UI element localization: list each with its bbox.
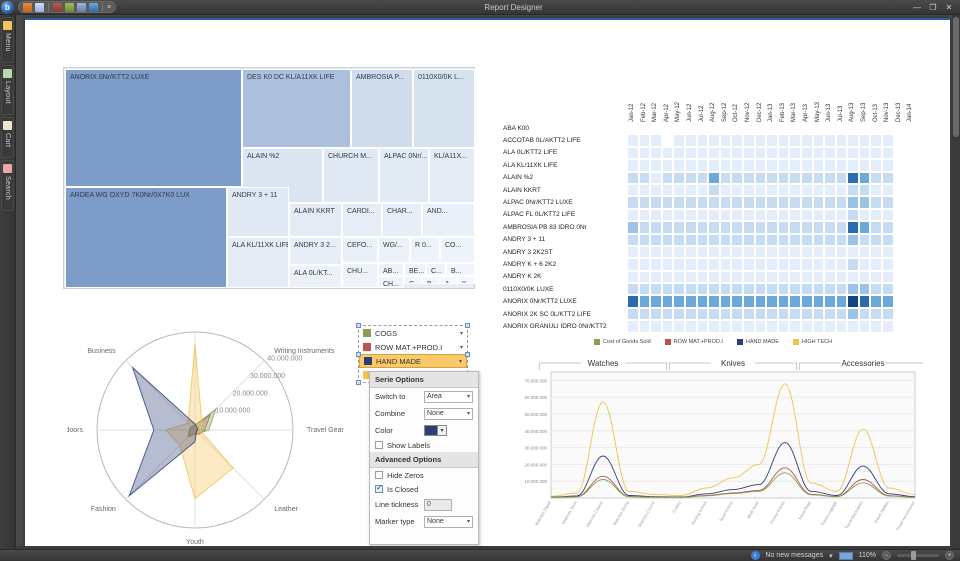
heatmap-cell[interactable] — [847, 209, 859, 221]
save-icon[interactable] — [23, 3, 32, 12]
heatmap-cell[interactable] — [731, 134, 743, 146]
heatmap-cell[interactable] — [755, 234, 767, 246]
heatmap-cell[interactable] — [720, 196, 732, 208]
heatmap-cell[interactable] — [662, 196, 674, 208]
heatmap-cell[interactable] — [859, 196, 871, 208]
heatmap-cell[interactable] — [894, 122, 906, 134]
heatmap-cell[interactable] — [836, 147, 848, 159]
heatmap-row[interactable]: ALAIN %2 — [503, 172, 917, 184]
heatmap-cell[interactable] — [905, 234, 917, 246]
heatmap-cell[interactable] — [789, 134, 801, 146]
heatmap-cell[interactable] — [743, 283, 755, 295]
heatmap-cell[interactable] — [801, 258, 813, 270]
heatmap-cell[interactable] — [882, 258, 894, 270]
heatmap-cell[interactable] — [894, 258, 906, 270]
heatmap-cell[interactable] — [685, 196, 697, 208]
heatmap-cell[interactable] — [766, 246, 778, 258]
heatmap-cell[interactable] — [627, 184, 639, 196]
heatmap-cell[interactable] — [859, 209, 871, 221]
heatmap-cell[interactable] — [766, 159, 778, 171]
heatmap-cell[interactable] — [847, 196, 859, 208]
heatmap-cell[interactable] — [673, 147, 685, 159]
heatmap-cell[interactable] — [755, 122, 767, 134]
heatmap-cell[interactable] — [639, 283, 651, 295]
heatmap-cell[interactable] — [685, 320, 697, 332]
heatmap-cell[interactable] — [859, 283, 871, 295]
toolbar-overflow-icon[interactable]: ≡ — [107, 4, 111, 11]
color-picker[interactable]: ▾ — [424, 425, 447, 436]
heatmap-cell[interactable] — [882, 234, 894, 246]
heatmap-cell[interactable] — [789, 159, 801, 171]
heatmap-cell[interactable] — [662, 283, 674, 295]
heatmap-cell[interactable] — [743, 147, 755, 159]
heatmap-cell[interactable] — [697, 122, 709, 134]
heatmap-cell[interactable] — [836, 134, 848, 146]
heatmap-cell[interactable] — [766, 320, 778, 332]
heatmap-cell[interactable] — [894, 159, 906, 171]
heatmap-row[interactable]: ANDRY K 2K — [503, 271, 917, 283]
heatmap-cell[interactable] — [847, 246, 859, 258]
heatmap-cell[interactable] — [743, 271, 755, 283]
vertical-scrollbar[interactable] — [952, 15, 960, 549]
heatmap-cell[interactable] — [627, 246, 639, 258]
heatmap-cell[interactable] — [743, 184, 755, 196]
heatmap-cell[interactable] — [708, 184, 720, 196]
heatmap-cell[interactable] — [720, 283, 732, 295]
heatmap-cell[interactable] — [639, 172, 651, 184]
heatmap-cell[interactable] — [801, 134, 813, 146]
heatmap-cell[interactable] — [743, 234, 755, 246]
heatmap-cell[interactable] — [662, 147, 674, 159]
heatmap-cell[interactable] — [894, 184, 906, 196]
heatmap-cell[interactable] — [836, 258, 848, 270]
heatmap-cell[interactable] — [870, 221, 882, 233]
treemap-tile[interactable]: CO... — [440, 237, 475, 263]
heatmap-cell[interactable] — [650, 122, 662, 134]
heatmap-cell[interactable] — [639, 258, 651, 270]
heatmap-cell[interactable] — [859, 159, 871, 171]
heatmap-cell[interactable] — [882, 308, 894, 320]
heatmap-cell[interactable] — [778, 184, 790, 196]
heatmap-cell[interactable] — [870, 295, 882, 307]
legend-item[interactable]: ROW MAT.+PROD.I▾ — [359, 340, 467, 354]
heatmap-cell[interactable] — [813, 246, 825, 258]
heatmap-cell[interactable] — [778, 295, 790, 307]
heatmap-cell[interactable] — [708, 196, 720, 208]
heatmap-cell[interactable] — [870, 147, 882, 159]
heatmap-cell[interactable] — [650, 295, 662, 307]
heatmap-cell[interactable] — [813, 147, 825, 159]
heatmap-cell[interactable] — [778, 221, 790, 233]
heatmap-cell[interactable] — [627, 209, 639, 221]
heatmap-cell[interactable] — [755, 246, 767, 258]
scrollbar-thumb[interactable] — [953, 17, 959, 137]
heatmap-cell[interactable] — [743, 308, 755, 320]
heatmap-cell[interactable] — [789, 234, 801, 246]
heatmap-cell[interactable] — [662, 172, 674, 184]
treemap-tile[interactable]: DES K0 DC KL/A11XK LIFE — [242, 69, 351, 148]
heatmap-cell[interactable] — [905, 295, 917, 307]
heatmap-cell[interactable] — [708, 271, 720, 283]
heatmap-cell[interactable] — [905, 271, 917, 283]
heatmap-cell[interactable] — [662, 221, 674, 233]
heatmap-cell[interactable] — [836, 122, 848, 134]
heatmap-cell[interactable] — [685, 258, 697, 270]
heatmap-cell[interactable] — [836, 271, 848, 283]
heatmap-cell[interactable] — [720, 122, 732, 134]
treemap-tile[interactable]: R 0... — [410, 237, 440, 263]
heatmap-cell[interactable] — [673, 308, 685, 320]
heatmap-cell[interactable] — [743, 246, 755, 258]
heatmap-cell[interactable] — [697, 246, 709, 258]
chart-legend-item[interactable]: HIGH TECH — [793, 339, 832, 345]
heatmap-cell[interactable] — [743, 258, 755, 270]
heatmap-cell[interactable] — [708, 134, 720, 146]
heatmap-cell[interactable] — [778, 196, 790, 208]
heatmap-cell[interactable] — [801, 308, 813, 320]
heatmap-cell[interactable] — [685, 172, 697, 184]
treemap-tile[interactable]: 0110X0/0K L... — [413, 69, 475, 148]
heatmap-cell[interactable] — [755, 258, 767, 270]
heatmap-cell[interactable] — [673, 320, 685, 332]
sidebar-item-menu[interactable]: Menu — [1, 17, 14, 63]
heatmap-cell[interactable] — [627, 234, 639, 246]
treemap-tile[interactable]: C... — [404, 276, 422, 284]
treemap-tile[interactable]: CHU... — [342, 263, 378, 288]
heatmap-cell[interactable] — [847, 147, 859, 159]
heatmap-cell[interactable] — [650, 196, 662, 208]
heatmap-cell[interactable] — [673, 246, 685, 258]
heatmap-cell[interactable] — [836, 308, 848, 320]
heatmap-cell[interactable] — [708, 234, 720, 246]
heatmap-cell[interactable] — [870, 134, 882, 146]
heatmap-cell[interactable] — [859, 246, 871, 258]
treemap-tile[interactable]: AMBROSIA P... — [351, 69, 413, 148]
heatmap-cell[interactable] — [824, 122, 836, 134]
treemap-tile[interactable]: ANDRY 3 2... — [289, 237, 342, 265]
marker-type-select[interactable]: None ▾ — [424, 516, 473, 528]
heatmap-cell[interactable] — [673, 196, 685, 208]
heatmap-cell[interactable] — [801, 271, 813, 283]
treemap-tile[interactable]: B... — [422, 276, 440, 284]
heatmap-cell[interactable] — [673, 209, 685, 221]
heatmap-cell[interactable] — [697, 221, 709, 233]
heatmap-cell[interactable] — [720, 271, 732, 283]
heatmap-cell[interactable] — [662, 258, 674, 270]
heatmap-cell[interactable] — [789, 147, 801, 159]
heatmap-cell[interactable] — [766, 283, 778, 295]
grid-icon[interactable] — [77, 3, 86, 12]
heatmap-cell[interactable] — [650, 172, 662, 184]
heatmap-cell[interactable] — [720, 234, 732, 246]
heatmap-row[interactable]: ALPAC 0Nr/KTT2 LUXE — [503, 196, 917, 208]
heatmap-cell[interactable] — [859, 308, 871, 320]
serie-options-panel[interactable]: Serie Options Switch to Area ▾ Combine N… — [369, 371, 479, 545]
heatmap-cell[interactable] — [662, 122, 674, 134]
radar-series-area[interactable] — [129, 368, 198, 496]
heatmap-cell[interactable] — [697, 295, 709, 307]
chart-legend-item[interactable]: HAND MADE — [737, 339, 779, 345]
heatmap-cell[interactable] — [905, 308, 917, 320]
heatmap-cell[interactable] — [639, 209, 651, 221]
heatmap-cell[interactable] — [894, 196, 906, 208]
heatmap-cell[interactable] — [650, 234, 662, 246]
heatmap-cell[interactable] — [870, 320, 882, 332]
heatmap-cell[interactable] — [789, 221, 801, 233]
treemap-tile[interactable]: CH... — [378, 276, 404, 288]
heatmap-cell[interactable] — [743, 196, 755, 208]
treemap-tile[interactable]: B... — [446, 263, 475, 276]
heatmap-cell[interactable] — [639, 159, 651, 171]
heatmap-cell[interactable] — [650, 246, 662, 258]
heatmap-cell[interactable] — [824, 209, 836, 221]
heatmap-cell[interactable] — [859, 295, 871, 307]
heatmap-cell[interactable] — [662, 308, 674, 320]
heatmap-row[interactable]: 0110X0/0K LUXE — [503, 283, 917, 295]
chart-legend-item[interactable]: ROW MAT.+PROD.I — [665, 339, 723, 345]
heatmap-cell[interactable] — [731, 320, 743, 332]
heatmap-cell[interactable] — [708, 246, 720, 258]
heatmap-cell[interactable] — [731, 196, 743, 208]
heatmap-cell[interactable] — [789, 209, 801, 221]
heatmap-cell[interactable] — [905, 196, 917, 208]
heatmap-cell[interactable] — [743, 134, 755, 146]
heatmap-cell[interactable] — [685, 184, 697, 196]
switch-to-select[interactable]: Area ▾ — [424, 391, 473, 403]
heatmap-cell[interactable] — [894, 147, 906, 159]
treemap-tile[interactable]: CHAR... — [382, 203, 422, 237]
heatmap-cell[interactable] — [789, 196, 801, 208]
resize-handle-tl[interactable] — [356, 323, 361, 328]
heatmap-cell[interactable] — [882, 196, 894, 208]
heatmap-cell[interactable] — [789, 295, 801, 307]
heatmap-cell[interactable] — [766, 295, 778, 307]
heatmap-cell[interactable] — [627, 172, 639, 184]
treemap-tile[interactable]: KL/A11X... — [429, 148, 475, 203]
heatmap-cell[interactable] — [882, 159, 894, 171]
treemap-tile[interactable]: WG/... — [378, 237, 410, 263]
treemap-tile[interactable]: ANORIX 0Nr/KTT2 LUXE — [65, 69, 242, 187]
heatmap-cell[interactable] — [801, 159, 813, 171]
heatmap-cell[interactable] — [813, 122, 825, 134]
line-chart-widget[interactable]: Cost of Goods SoldROW MAT.+PROD.IHAND MA… — [503, 336, 923, 546]
heatmap-cell[interactable] — [743, 221, 755, 233]
heatmap-cell[interactable] — [673, 295, 685, 307]
heatmap-cell[interactable] — [627, 134, 639, 146]
heatmap-cell[interactable] — [650, 308, 662, 320]
treemap-tile[interactable]: ALAIN KKRT — [289, 203, 342, 237]
heatmap-cell[interactable] — [627, 320, 639, 332]
heatmap-cell[interactable] — [627, 271, 639, 283]
heatmap-cell[interactable] — [720, 308, 732, 320]
heatmap-cell[interactable] — [894, 234, 906, 246]
heatmap-cell[interactable] — [639, 196, 651, 208]
heatmap-cell[interactable] — [662, 320, 674, 332]
heatmap-cell[interactable] — [859, 271, 871, 283]
heatmap-cell[interactable] — [789, 172, 801, 184]
heatmap-cell[interactable] — [650, 209, 662, 221]
heatmap-cell[interactable] — [708, 258, 720, 270]
heatmap-cell[interactable] — [650, 258, 662, 270]
heatmap-cell[interactable] — [789, 320, 801, 332]
heatmap-cell[interactable] — [731, 122, 743, 134]
heatmap-cell[interactable] — [685, 283, 697, 295]
heatmap-cell[interactable] — [627, 122, 639, 134]
heatmap-cell[interactable] — [870, 196, 882, 208]
heatmap-cell[interactable] — [639, 221, 651, 233]
heatmap-cell[interactable] — [685, 221, 697, 233]
heatmap-cell[interactable] — [766, 134, 778, 146]
redo-icon[interactable] — [65, 3, 74, 12]
heatmap-cell[interactable] — [697, 184, 709, 196]
heatmap-cell[interactable] — [859, 172, 871, 184]
heatmap-cell[interactable] — [650, 134, 662, 146]
heatmap-cell[interactable] — [778, 122, 790, 134]
heatmap-cell[interactable] — [824, 184, 836, 196]
heatmap-cell[interactable] — [882, 221, 894, 233]
heatmap-cell[interactable] — [905, 159, 917, 171]
heatmap-cell[interactable] — [743, 122, 755, 134]
show-labels-checkbox[interactable] — [375, 441, 383, 449]
heatmap-cell[interactable] — [836, 283, 848, 295]
heatmap-cell[interactable] — [905, 258, 917, 270]
heatmap-cell[interactable] — [720, 209, 732, 221]
heatmap-cell[interactable] — [743, 172, 755, 184]
heatmap-cell[interactable] — [755, 209, 767, 221]
treemap-tile[interactable]: ALPAC 0Nr/... — [379, 148, 429, 203]
heatmap-cell[interactable] — [847, 122, 859, 134]
treemap-tile[interactable]: ALA 0L/KT... — [289, 265, 342, 288]
heatmap-row[interactable]: ANDRY 3 2K2ST — [503, 246, 917, 258]
treemap-tile[interactable]: A... — [440, 276, 457, 284]
heatmap-cell[interactable] — [778, 258, 790, 270]
heatmap-cell[interactable] — [778, 320, 790, 332]
heatmap-cell[interactable] — [778, 234, 790, 246]
chevron-down-icon-3[interactable]: ▾ — [438, 425, 447, 436]
heatmap-cell[interactable] — [685, 295, 697, 307]
heatmap-cell[interactable] — [894, 209, 906, 221]
heatmap-cell[interactable] — [766, 196, 778, 208]
heatmap-cell[interactable] — [685, 159, 697, 171]
heatmap-cell[interactable] — [882, 122, 894, 134]
heatmap-cell[interactable] — [662, 184, 674, 196]
heatmap-cell[interactable] — [801, 172, 813, 184]
heatmap-cell[interactable] — [813, 134, 825, 146]
heatmap-cell[interactable] — [905, 122, 917, 134]
heatmap-cell[interactable] — [639, 246, 651, 258]
heatmap-cell[interactable] — [824, 283, 836, 295]
heatmap-cell[interactable] — [836, 295, 848, 307]
heatmap-row[interactable]: AMBROSIA PB 83 IDRO 0Nr — [503, 221, 917, 233]
heatmap-cell[interactable] — [824, 271, 836, 283]
heatmap-cell[interactable] — [847, 184, 859, 196]
heatmap-cell[interactable] — [836, 209, 848, 221]
heatmap-cell[interactable] — [708, 308, 720, 320]
heatmap-cell[interactable] — [639, 147, 651, 159]
heatmap-cell[interactable] — [697, 147, 709, 159]
heatmap-cell[interactable] — [870, 122, 882, 134]
heatmap-cell[interactable] — [905, 184, 917, 196]
combine-select[interactable]: None ▾ — [424, 408, 473, 420]
heatmap-cell[interactable] — [627, 196, 639, 208]
heatmap-cell[interactable] — [731, 184, 743, 196]
page-icon[interactable] — [839, 552, 853, 560]
heatmap-cell[interactable] — [813, 159, 825, 171]
heatmap-cell[interactable] — [813, 308, 825, 320]
heatmap-cell[interactable] — [708, 283, 720, 295]
app-orb-button[interactable]: b — [1, 1, 14, 14]
heatmap-cell[interactable] — [870, 271, 882, 283]
heatmap-cell[interactable] — [685, 122, 697, 134]
heatmap-cell[interactable] — [627, 295, 639, 307]
heatmap-cell[interactable] — [824, 320, 836, 332]
heatmap-cell[interactable] — [731, 246, 743, 258]
heatmap-cell[interactable] — [731, 221, 743, 233]
heatmap-row[interactable]: ANDRY 3 + 11 — [503, 234, 917, 246]
heatmap-cell[interactable] — [697, 134, 709, 146]
heatmap-cell[interactable] — [755, 320, 767, 332]
heatmap-cell[interactable] — [685, 246, 697, 258]
legend-item[interactable]: COGS▾ — [359, 326, 467, 340]
legend-item-caret-icon[interactable]: ▾ — [460, 344, 463, 351]
heatmap-cell[interactable] — [894, 295, 906, 307]
heatmap-cell[interactable] — [639, 234, 651, 246]
heatmap-row[interactable]: ACCOTAB 0L/AKTT2 LIFE — [503, 134, 917, 146]
heatmap-cell[interactable] — [847, 258, 859, 270]
heatmap-cell[interactable] — [720, 221, 732, 233]
legend-item-caret-icon[interactable]: ▾ — [459, 358, 462, 365]
heatmap-cell[interactable] — [847, 308, 859, 320]
sidebar-item-layout[interactable]: Layout — [1, 65, 14, 115]
heatmap-cell[interactable] — [743, 295, 755, 307]
heatmap-cell[interactable] — [813, 172, 825, 184]
heatmap-cell[interactable] — [801, 234, 813, 246]
heatmap-cell[interactable] — [882, 147, 894, 159]
heatmap-cell[interactable] — [789, 283, 801, 295]
heatmap-cell[interactable] — [882, 320, 894, 332]
heatmap-cell[interactable] — [627, 221, 639, 233]
heatmap-cell[interactable] — [870, 159, 882, 171]
heatmap-cell[interactable] — [731, 283, 743, 295]
window-icon[interactable] — [35, 3, 44, 12]
heatmap-cell[interactable] — [905, 134, 917, 146]
heatmap-cell[interactable] — [755, 134, 767, 146]
heatmap-cell[interactable] — [639, 134, 651, 146]
hide-zeros-row[interactable]: Hide Zeros — [370, 468, 478, 482]
heatmap-cell[interactable] — [708, 122, 720, 134]
heatmap-cell[interactable] — [836, 159, 848, 171]
heatmap-cell[interactable] — [731, 172, 743, 184]
heatmap-cell[interactable] — [870, 172, 882, 184]
heatmap-cell[interactable] — [778, 283, 790, 295]
heatmap-cell[interactable] — [870, 246, 882, 258]
heatmap-cell[interactable] — [801, 221, 813, 233]
heatmap-row[interactable]: ALA 0L/KTT2 LIFE — [503, 147, 917, 159]
heatmap-cell[interactable] — [685, 308, 697, 320]
heatmap-cell[interactable] — [708, 159, 720, 171]
heatmap-cell[interactable] — [731, 159, 743, 171]
legend-item-caret-icon[interactable]: ▾ — [460, 330, 463, 337]
heatmap-cell[interactable] — [731, 209, 743, 221]
heatmap-cell[interactable] — [836, 221, 848, 233]
zoom-out-button[interactable]: − — [882, 551, 891, 560]
heatmap-row[interactable]: ANORIX GRANULI IDRO 0Nr/KTT2 — [503, 320, 917, 332]
heatmap-cell[interactable] — [789, 122, 801, 134]
heatmap-cell[interactable] — [639, 295, 651, 307]
heatmap-cell[interactable] — [662, 246, 674, 258]
heatmap-cell[interactable] — [859, 122, 871, 134]
heatmap-cell[interactable] — [824, 295, 836, 307]
